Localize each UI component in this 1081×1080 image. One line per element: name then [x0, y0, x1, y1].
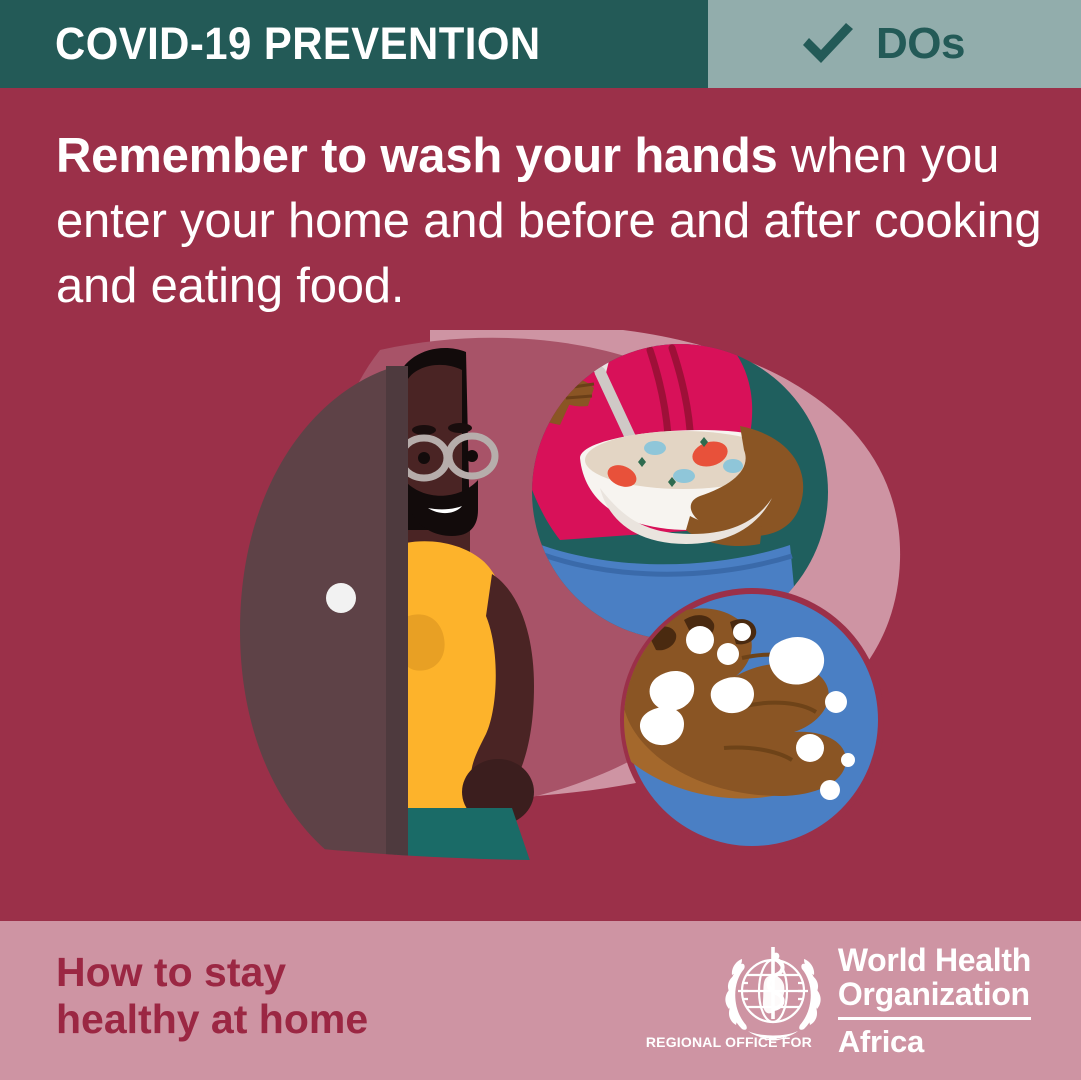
who-organization-name: World Health Organization	[838, 943, 1031, 1011]
headline: Remember to wash your hands when you ent…	[56, 124, 1046, 319]
check-icon	[800, 21, 856, 67]
footer-tagline: How to stay healthy at home	[56, 949, 368, 1043]
who-logo: World Health Organization REGIONAL OFFIC…	[718, 939, 1031, 1060]
who-regional-prefix: REGIONAL OFFICE FOR	[646, 1034, 812, 1050]
poster: COVID-19 PREVENTION DOs Remember to wash…	[0, 0, 1081, 1080]
page-title: COVID-19 PREVENTION	[55, 18, 541, 70]
illustration	[0, 330, 1081, 925]
door	[240, 366, 408, 890]
who-region-name: Africa	[838, 1024, 924, 1060]
headline-bold: Remember to wash your hands	[56, 129, 778, 183]
header-bar: COVID-19 PREVENTION DOs	[0, 0, 1081, 88]
footer-bar: How to stay healthy at home	[0, 921, 1081, 1080]
who-region-row: REGIONAL OFFICE FOR Africa	[838, 1024, 1031, 1060]
doorknob	[326, 583, 356, 613]
who-emblem-icon	[718, 939, 828, 1049]
who-wordmark: World Health Organization REGIONAL OFFIC…	[838, 939, 1031, 1060]
dos-label: DOs	[876, 19, 965, 69]
who-divider	[838, 1017, 1031, 1020]
dos-badge-panel: DOs	[708, 0, 1081, 88]
header-title-panel: COVID-19 PREVENTION	[0, 0, 708, 88]
